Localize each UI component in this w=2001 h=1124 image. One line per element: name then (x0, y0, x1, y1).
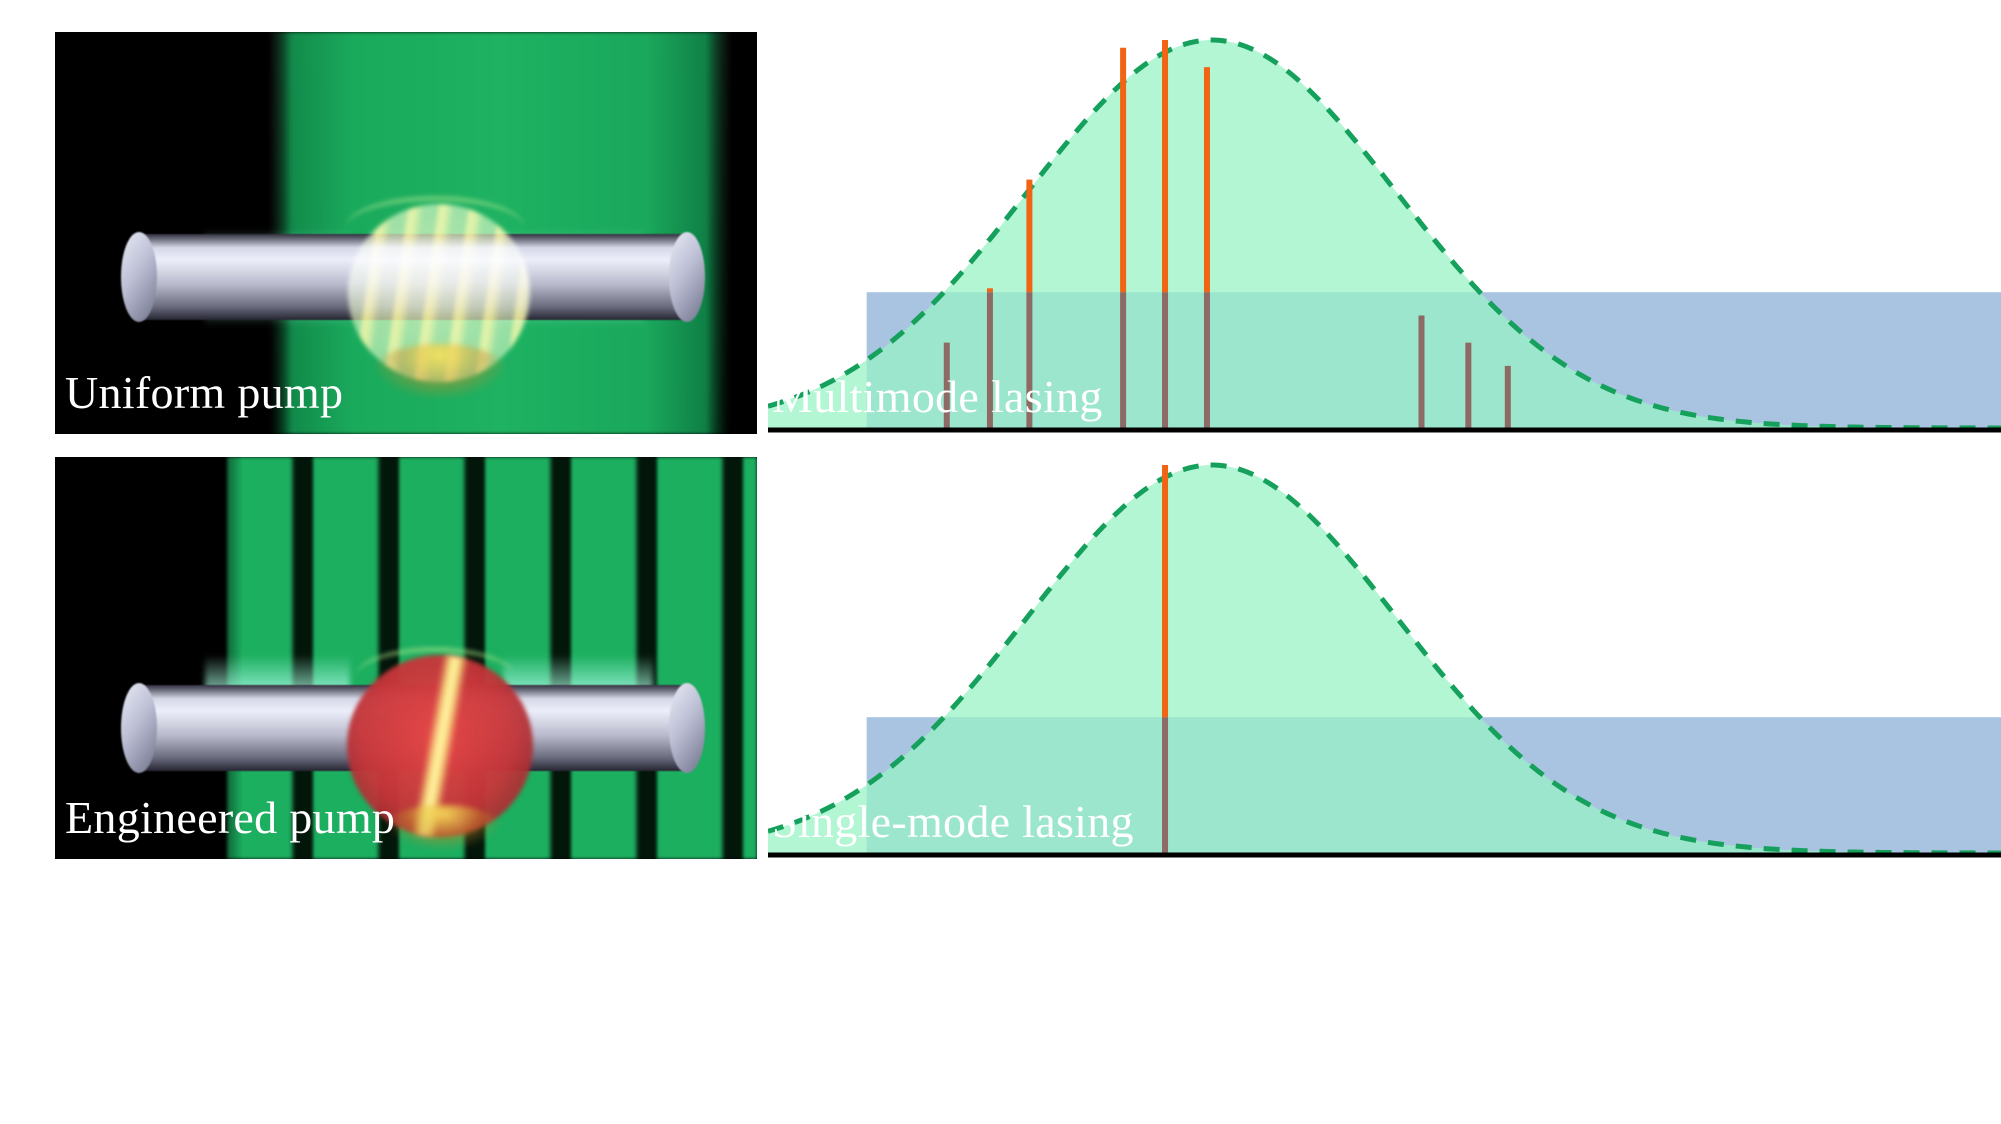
caption-engineered-pump: Engineered pump (65, 795, 395, 841)
fiber-stem-end-cap-right (669, 232, 705, 322)
fiber-stem-end-cap-left (121, 232, 157, 322)
caption-multimode-lasing: Multimode lasing (772, 374, 1103, 420)
pump-edge-right-fade (705, 32, 750, 434)
fiber-stem-end-cap-left-2 (121, 683, 157, 773)
sphere-underglow-uniform (373, 344, 507, 398)
panel-uniform-pump: Uniform pump (55, 32, 757, 434)
figure-root: Uniform pump Multimode lasing Engineered… (0, 0, 2001, 1124)
caption-single-mode-lasing: Single-mode lasing (772, 799, 1134, 845)
panel-multimode-lasing: Multimode lasing (768, 32, 2001, 434)
sphere-underglow-engineered (385, 805, 501, 849)
panel-single-mode-lasing: Single-mode lasing (768, 457, 2001, 859)
panel-engineered-pump: Engineered pump (55, 457, 757, 859)
caption-uniform-pump: Uniform pump (65, 370, 343, 416)
fiber-stem-end-cap-right-2 (669, 683, 705, 773)
